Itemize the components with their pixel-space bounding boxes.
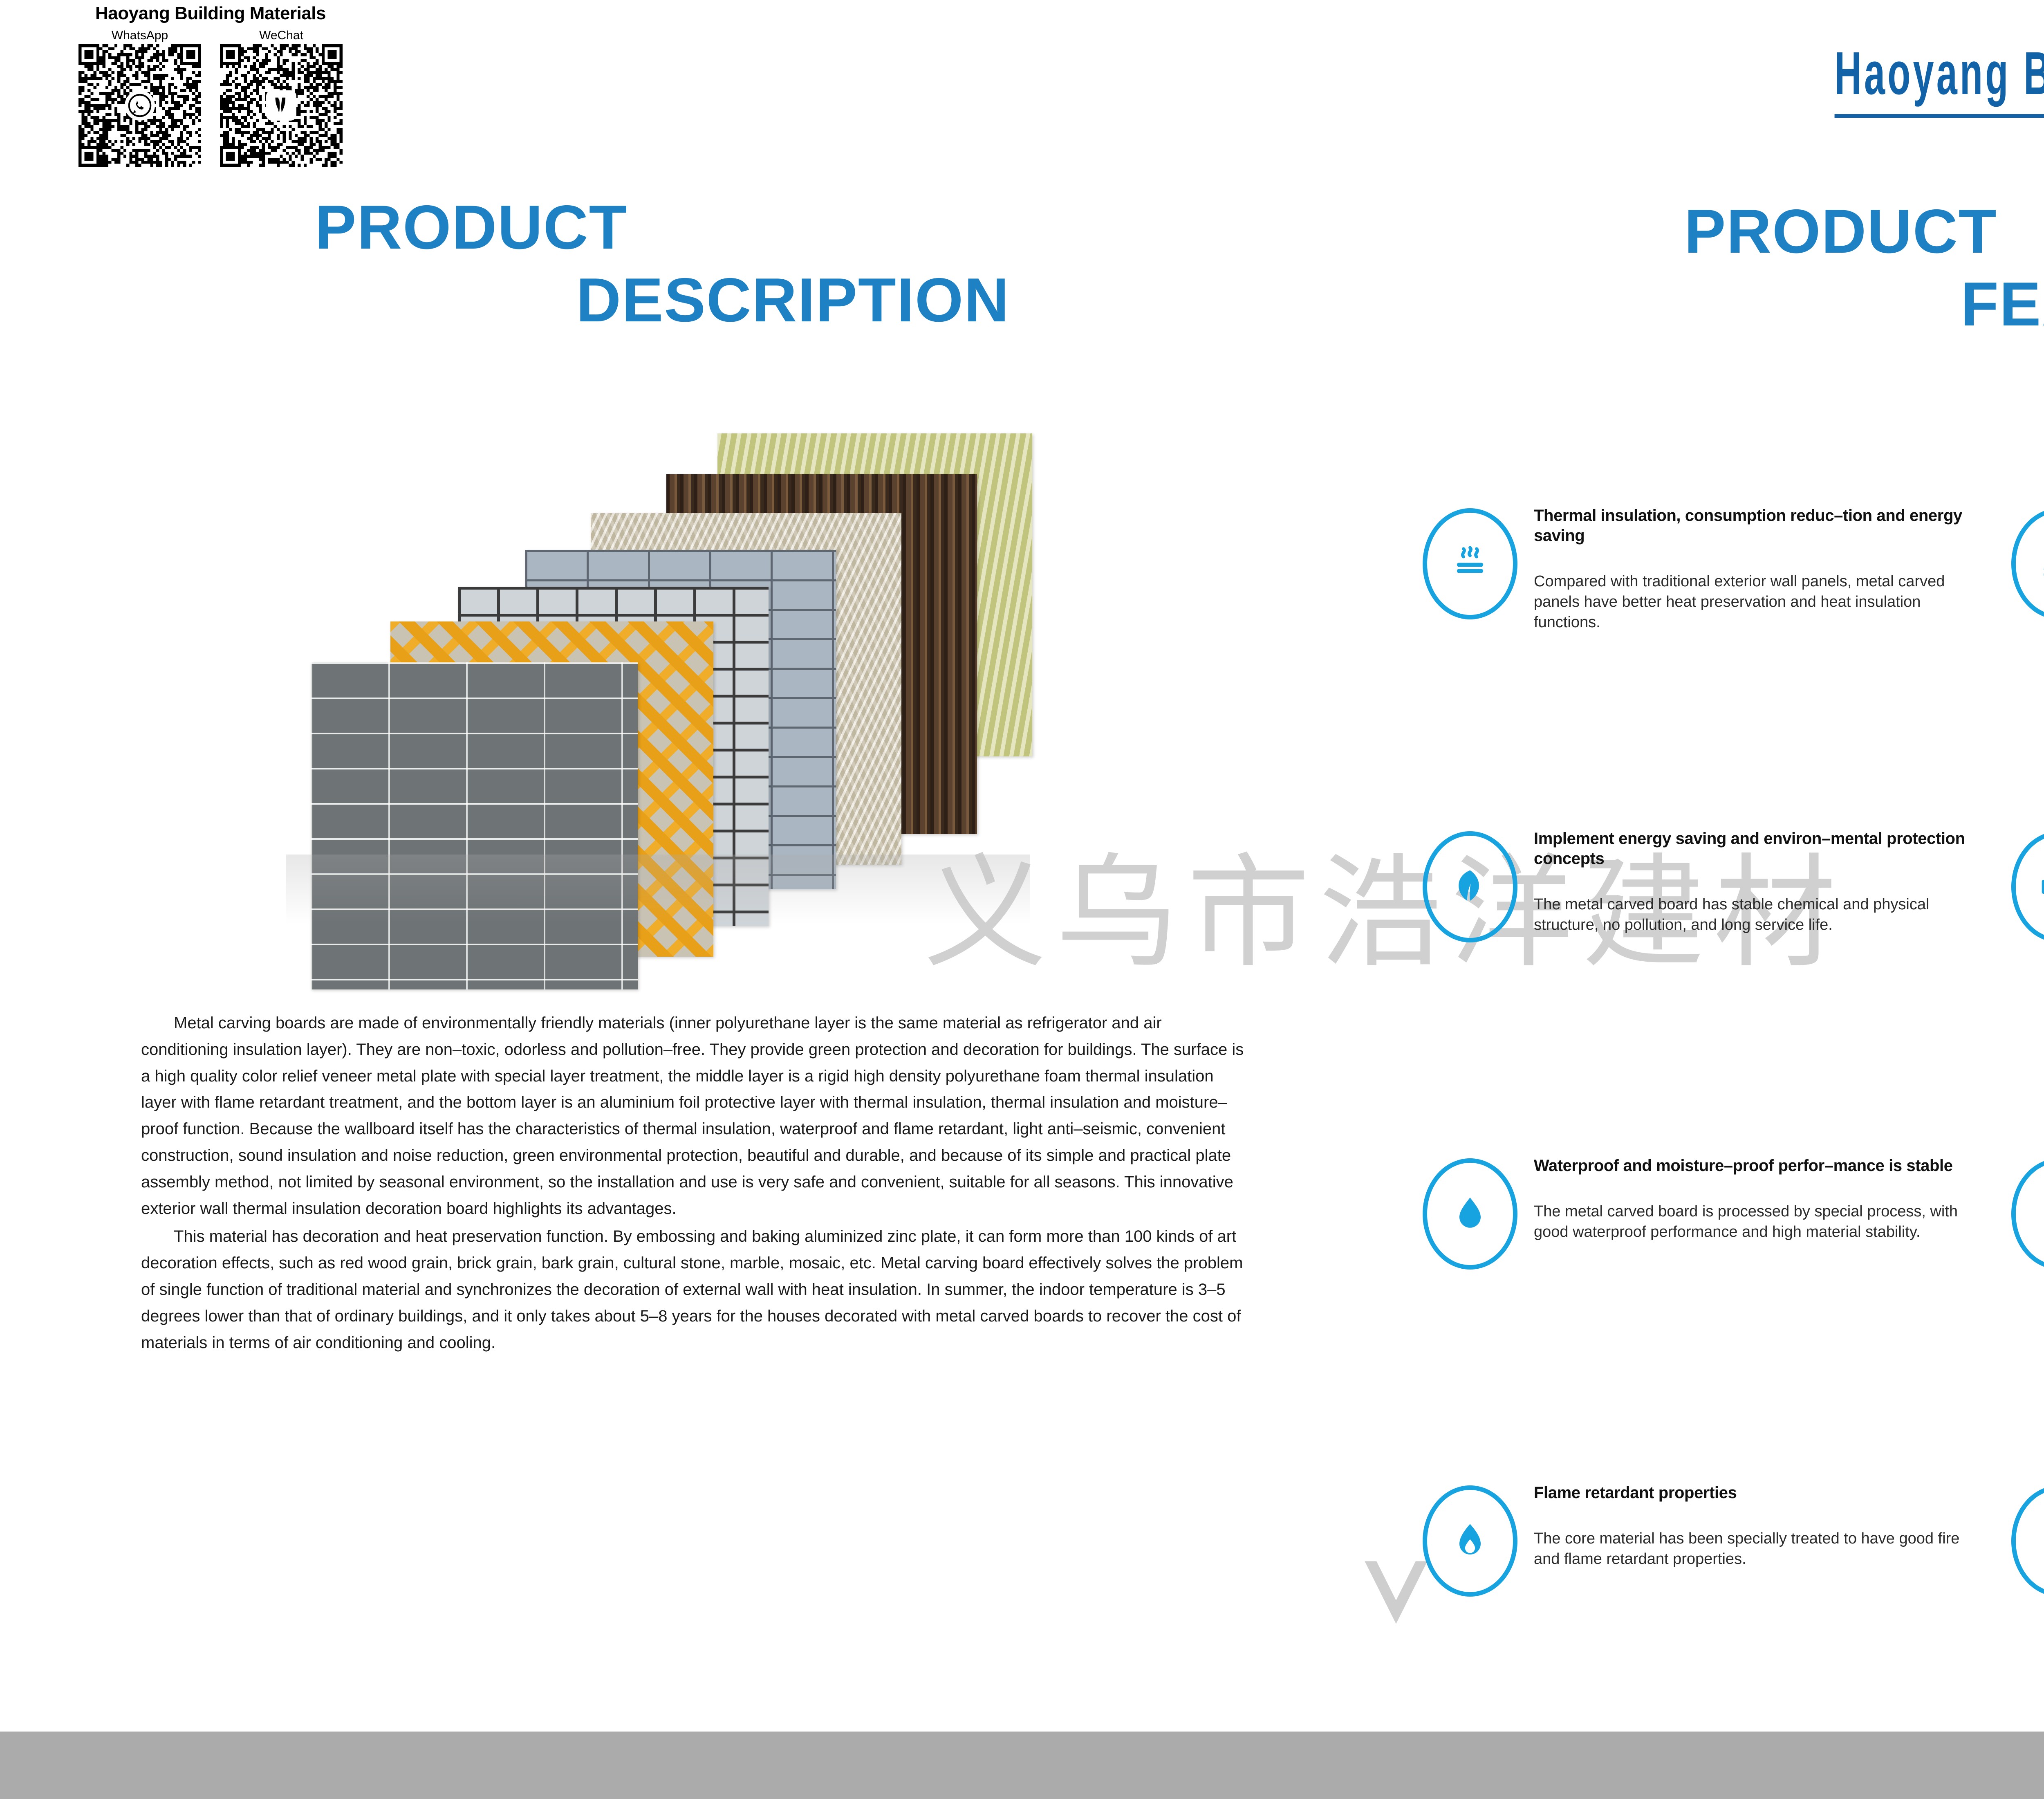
heading-line-2: DESCRIPTION	[315, 269, 1010, 331]
product-description-heading: PRODUCT DESCRIPTION	[315, 196, 1010, 331]
heading-line-2: FEATURES	[1684, 273, 2044, 335]
feature-title: Waterproof and moisture–proof perfor–man…	[1534, 1156, 1983, 1176]
feature-body: The metal carved board is processed by s…	[1534, 1201, 1983, 1242]
feature-item-thermal-insulation: Thermal insulation, consumption reduc–ti…	[1423, 501, 1983, 633]
feature-body: The metal carved board has stable chemic…	[1534, 894, 1983, 935]
product-description-body: Metal carving boards are made of environ…	[141, 1010, 1245, 1356]
flame-icon	[1423, 1485, 1517, 1597]
heading-line-1: PRODUCT	[1684, 200, 2044, 262]
heat-waves-icon	[1423, 508, 1517, 619]
wechat-icon	[266, 90, 296, 121]
feature-title: Implement energy saving and environ–ment…	[1534, 829, 1983, 869]
features-grid: Thermal insulation, consumption reduc–ti…	[1423, 501, 2044, 1678]
feature-item-shockproof: Light texture and obvious shockproof eff…	[2011, 1151, 2044, 1270]
qr-company-name: Haoyang Building Materials	[61, 4, 360, 23]
feature-title: Thermal insulation, consumption reduc–ti…	[1534, 506, 1983, 546]
wrench-screwdriver-icon	[2011, 508, 2044, 619]
product-features-heading: PRODUCT FEATURES	[1684, 200, 2044, 335]
wechat-qr-item[interactable]: WeChat	[220, 29, 343, 167]
water-drop-icon	[1423, 1158, 1517, 1270]
feature-item-convenient-installation: Convenient installation The installation…	[2011, 501, 2044, 619]
description-paragraph-1: Metal carving boards are made of environ…	[141, 1010, 1245, 1222]
description-paragraph-2: This material has decoration and heat pr…	[141, 1223, 1245, 1356]
brand-title: Haoyang Building Materials Tradinng	[1835, 39, 2044, 118]
wechat-qr-code[interactable]	[220, 44, 343, 167]
whatsapp-qr-code[interactable]	[78, 44, 201, 167]
feature-item-many-patterns: Many patterns and colorful There are man…	[2011, 1478, 2044, 1597]
whatsapp-icon	[125, 90, 155, 121]
wechat-label: WeChat	[259, 29, 303, 43]
catalog-page: Haoyang Building Materials WhatsApp	[0, 0, 2044, 1799]
feature-title: Flame retardant properties	[1534, 1483, 1983, 1503]
product-panel-stack-image	[286, 433, 1030, 859]
whatsapp-qr-item[interactable]: WhatsApp	[78, 29, 201, 167]
leaf-icon	[1423, 831, 1517, 942]
gray-brick-panel	[311, 662, 638, 989]
feature-item-flame-retardant: Flame retardant properties The core mate…	[1423, 1478, 1983, 1597]
building-icon	[2011, 1158, 2044, 1270]
feature-body: The core material has been specially tre…	[1534, 1528, 1983, 1569]
feature-item-environmental-protection: Implement energy saving and environ–ment…	[1423, 824, 1983, 942]
panel-reflection	[286, 855, 1030, 924]
feature-item-waterproof: Waterproof and moisture–proof perfor–man…	[1423, 1151, 1983, 1270]
feature-item-sound-insulation: Sound insulation and noise reduction, qu…	[2011, 824, 2044, 942]
color-fan-icon	[2011, 1485, 2044, 1597]
qr-contact-block: Haoyang Building Materials WhatsApp	[61, 4, 360, 167]
heading-line-1: PRODUCT	[315, 196, 1010, 258]
whatsapp-label: WhatsApp	[112, 29, 168, 43]
feature-body: Compared with traditional exterior wall …	[1534, 571, 1983, 633]
muted-speaker-icon	[2011, 831, 2044, 942]
footer-bar	[0, 1732, 2044, 1799]
